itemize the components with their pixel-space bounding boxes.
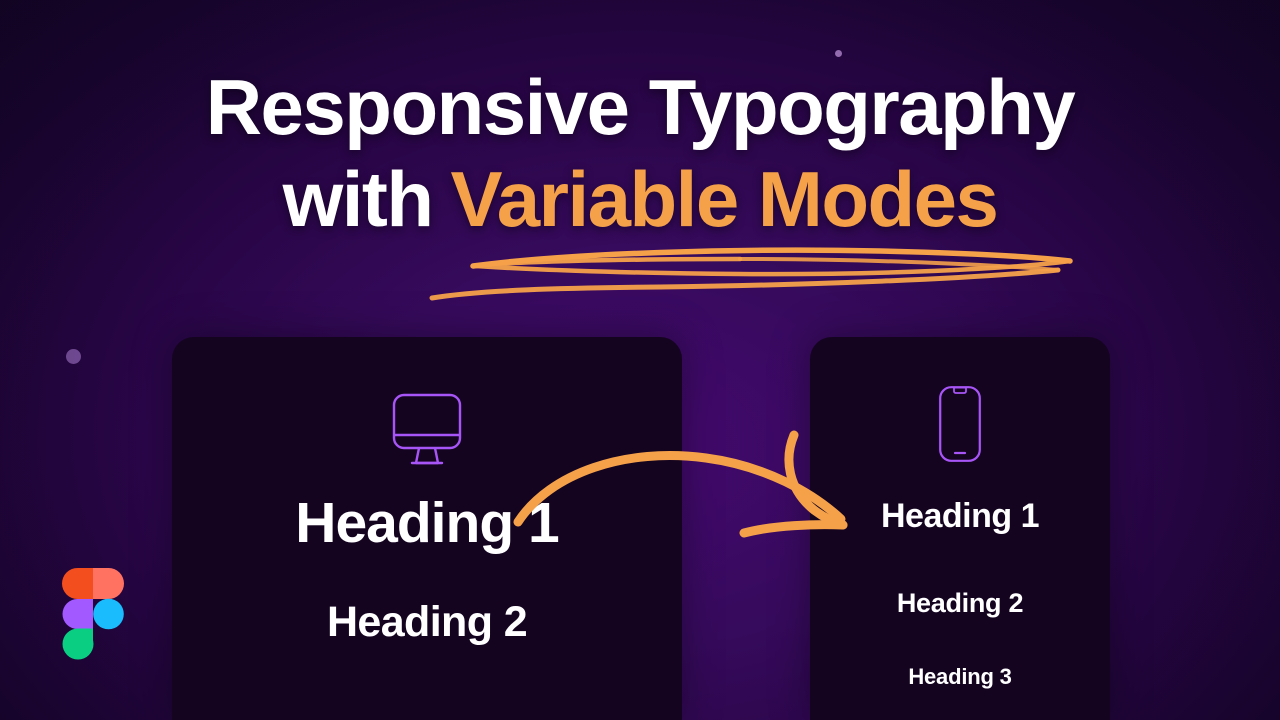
desktop-icon-container (172, 392, 682, 468)
headline-prefix: with (283, 155, 433, 243)
desktop-headings-list: Heading 1 Heading 2 (172, 495, 682, 644)
headline-line-2: withVariable Modes (0, 160, 1280, 240)
desktop-heading-1: Heading 1 (172, 495, 682, 552)
device-card-desktop[interactable]: Heading 1 Heading 2 (172, 337, 682, 720)
mobile-icon-container (810, 385, 1110, 463)
headline-accent: Variable Modes (451, 155, 998, 243)
headline-line-1: Responsive Typography (0, 68, 1280, 148)
decorative-dot-large (66, 349, 81, 364)
decorative-dot-small (835, 50, 842, 57)
desktop-monitor-icon (391, 392, 463, 468)
mobile-phone-icon (938, 385, 982, 463)
figma-logo-icon[interactable] (62, 568, 124, 660)
mobile-heading-2: Heading 2 (810, 590, 1110, 617)
mobile-heading-3: Heading 3 (810, 666, 1110, 688)
device-card-mobile[interactable]: Heading 1 Heading 2 Heading 3 (810, 337, 1110, 720)
mobile-headings-list: Heading 1 Heading 2 Heading 3 (810, 499, 1110, 688)
headline-block: Responsive Typography withVariable Modes (0, 68, 1280, 239)
slide-canvas: Responsive Typography withVariable Modes… (0, 0, 1280, 720)
mobile-heading-1: Heading 1 (810, 499, 1110, 533)
hand-drawn-underline-icon (410, 242, 1090, 304)
desktop-heading-2: Heading 2 (172, 601, 682, 644)
